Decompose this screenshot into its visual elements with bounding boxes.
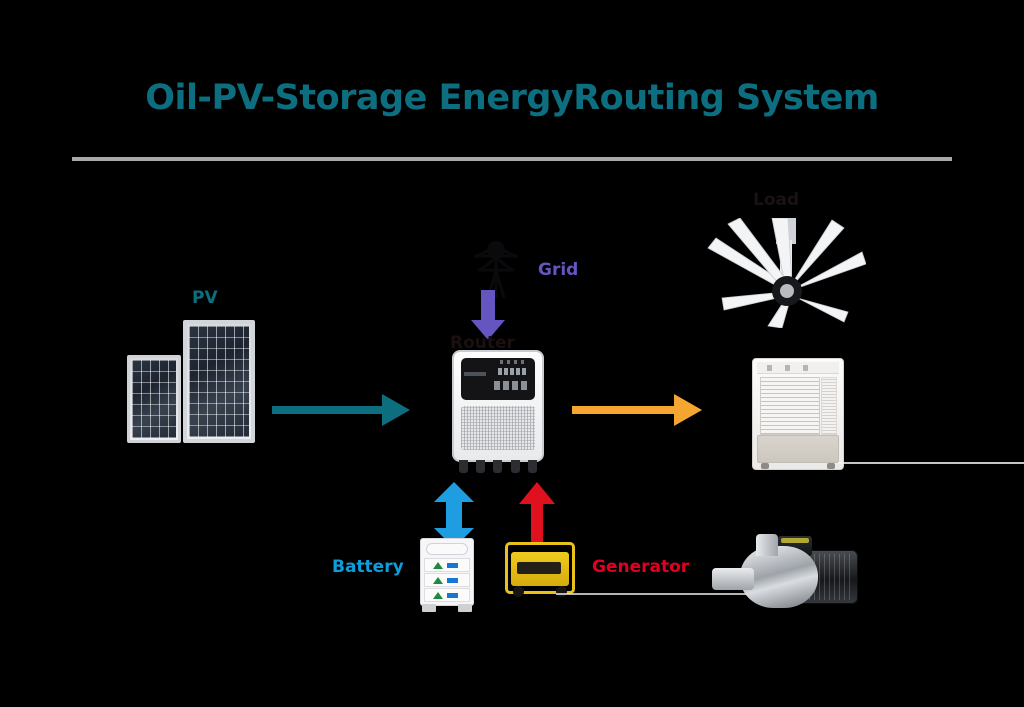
battery-label: Battery <box>332 557 404 577</box>
pv-label: PV <box>192 288 218 308</box>
diagram-canvas: Oil-PV-Storage EnergyRouting System PV G… <box>0 0 1024 707</box>
water-pump-icon <box>712 532 864 620</box>
arrow-pv-to-router-icon <box>272 392 412 428</box>
battery-feet <box>422 604 472 612</box>
inverter-feet <box>455 460 541 474</box>
solar-panel-icon <box>183 320 255 443</box>
diesel-generator-icon <box>505 542 575 594</box>
solar-panel-icon <box>127 355 181 443</box>
header-divider <box>72 157 952 161</box>
load-label: Load <box>753 190 799 210</box>
air-cooler-icon <box>752 358 844 470</box>
arrow-generator-to-router-icon <box>518 482 556 544</box>
page-title: Oil-PV-Storage EnergyRouting System <box>0 78 1024 118</box>
load-branch-line <box>838 462 1024 464</box>
generator-label: Generator <box>592 557 689 577</box>
arrow-router-to-load-icon <box>572 392 704 428</box>
ceiling-fan-icon <box>706 218 866 328</box>
grid-label: Grid <box>538 260 578 280</box>
energy-router-inverter-icon <box>452 350 544 462</box>
battery-stack-icon <box>420 538 474 606</box>
